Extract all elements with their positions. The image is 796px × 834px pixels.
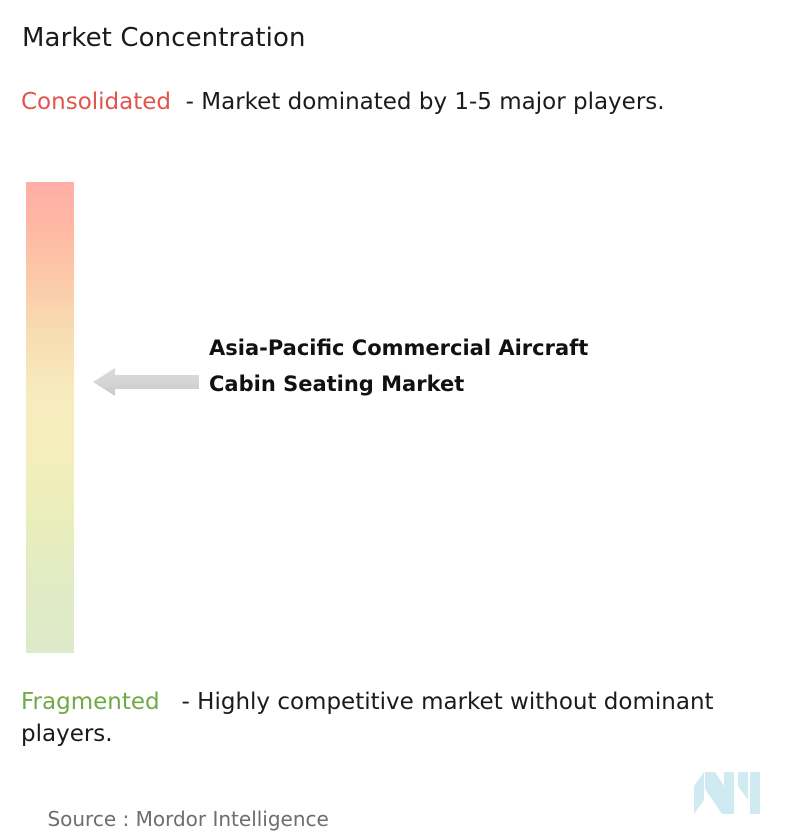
mordor-intelligence-logo — [694, 770, 762, 814]
page-title: Market Concentration — [22, 21, 306, 55]
legend-separator-top: - — [171, 89, 201, 115]
legend-fragmented: Fragmented - Highly competitive market w… — [21, 686, 789, 750]
arrow-left-icon — [93, 364, 199, 400]
source-label: Source : — [47, 807, 135, 831]
market-concentration-infographic: Market Concentration Consolidated - Mark… — [0, 0, 796, 834]
legend-consolidated: Consolidated - Market dominated by 1-5 m… — [21, 86, 766, 118]
market-name-label: Asia-Pacific Commercial Aircraft Cabin S… — [209, 331, 609, 402]
legend-term-consolidated: Consolidated — [21, 89, 171, 115]
concentration-gradient-bar — [26, 182, 74, 653]
legend-description-consolidated: Market dominated by 1-5 major players. — [201, 89, 664, 115]
source-value: Mordor Intelligence — [136, 807, 329, 831]
legend-separator-bottom: - — [160, 689, 198, 715]
legend-term-fragmented: Fragmented — [21, 689, 160, 715]
source-line: Source : Mordor Intelligence — [22, 783, 329, 834]
